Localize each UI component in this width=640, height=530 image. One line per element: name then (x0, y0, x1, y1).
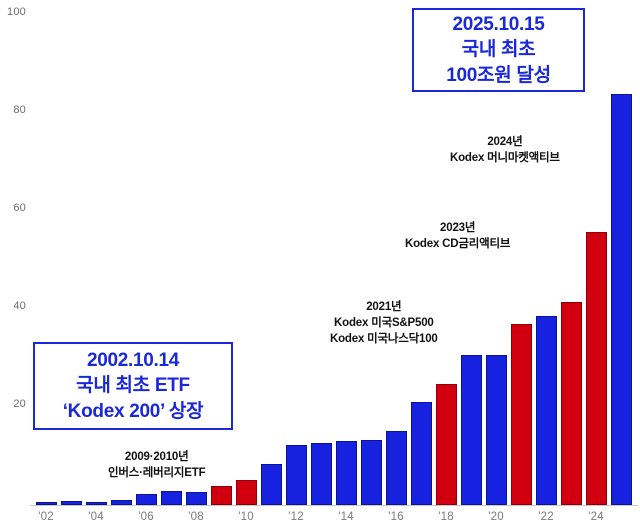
x-axis-tick-16: '16 (376, 511, 416, 523)
bar-2014[interactable] (336, 441, 357, 505)
bar-2021[interactable] (511, 324, 532, 505)
annot-2024-line1: 2024년 (450, 135, 560, 151)
annot-2021-line1: 2021년 (330, 300, 438, 316)
annot-2023: 2023년Kodex CD금리액티브 (405, 221, 510, 253)
callout-2025-line1: 2025.10.15 (452, 12, 544, 37)
bar-2017[interactable] (411, 402, 432, 505)
bar-2025[interactable] (611, 94, 632, 505)
callout-2025-line2: 국내 최초 (462, 37, 536, 62)
bar-2016[interactable] (386, 431, 407, 505)
x-axis-tick-06: '06 (126, 511, 166, 523)
callout-2025-line3: 100조원 달성 (446, 63, 551, 88)
annot-2021-line2: Kodex 미국S&P500 (330, 316, 438, 332)
x-axis-tick-12: '12 (276, 511, 316, 523)
x-axis-tick-04: '04 (76, 511, 116, 523)
x-axis-tick-14: '14 (326, 511, 366, 523)
callout-2002-line2: 국내 최초 ETF (76, 373, 190, 398)
annot-2021-line3: Kodex 미국나스닥100 (330, 332, 438, 348)
bar-2008[interactable] (186, 492, 207, 505)
annot-2009-2010: 2009·2010년인버스·레버리지ETF (108, 450, 205, 482)
callout-2002-line1: 2002.10.14 (87, 348, 179, 373)
bar-2012[interactable] (286, 445, 307, 505)
x-axis-tick-20: '20 (476, 511, 516, 523)
bar-2023[interactable] (561, 302, 582, 505)
x-axis-tick-10: '10 (226, 511, 266, 523)
x-axis-tick-08: '08 (176, 511, 216, 523)
annot-2009-2010-line2: 인버스·레버리지ETF (108, 466, 205, 482)
bar-2020[interactable] (486, 355, 507, 505)
bar-2011[interactable] (261, 464, 282, 505)
annot-2024-line2: Kodex 머니마켓액티브 (450, 151, 560, 167)
bar-2007[interactable] (161, 491, 182, 505)
x-axis-tick-22: '22 (526, 511, 566, 523)
bar-2006[interactable] (136, 494, 157, 505)
bar-2022[interactable] (536, 316, 557, 505)
callout-2002-line3: ‘Kodex 200’ 상장 (63, 399, 204, 424)
bar-2010[interactable] (236, 480, 257, 505)
annot-2023-line1: 2023년 (405, 221, 510, 237)
callout-2002-first-etf: 2002.10.14 국내 최초 ETF ‘Kodex 200’ 상장 (33, 342, 233, 430)
x-axis-baseline (30, 505, 638, 506)
x-axis-tick-02: '02 (26, 511, 66, 523)
callout-2025-milestone: 2025.10.15 국내 최초 100조원 달성 (412, 8, 585, 92)
bar-2015[interactable] (361, 440, 382, 505)
annot-2023-line2: Kodex CD금리액티브 (405, 237, 510, 253)
etf-growth-bar-chart: 10080604020 '02'04'06'08'10'12'14'16'18'… (0, 0, 640, 530)
annot-2024: 2024년Kodex 머니마켓액티브 (450, 135, 560, 167)
bar-2024[interactable] (586, 232, 607, 505)
bar-2009[interactable] (211, 486, 232, 505)
bar-2013[interactable] (311, 443, 332, 505)
bar-2019[interactable] (461, 355, 482, 505)
x-axis-tick-24: '24 (576, 511, 616, 523)
x-axis-tick-18: '18 (426, 511, 466, 523)
bar-2018[interactable] (436, 384, 457, 505)
annot-2021: 2021년Kodex 미국S&P500Kodex 미국나스닥100 (330, 300, 438, 348)
annot-2009-2010-line1: 2009·2010년 (108, 450, 205, 466)
